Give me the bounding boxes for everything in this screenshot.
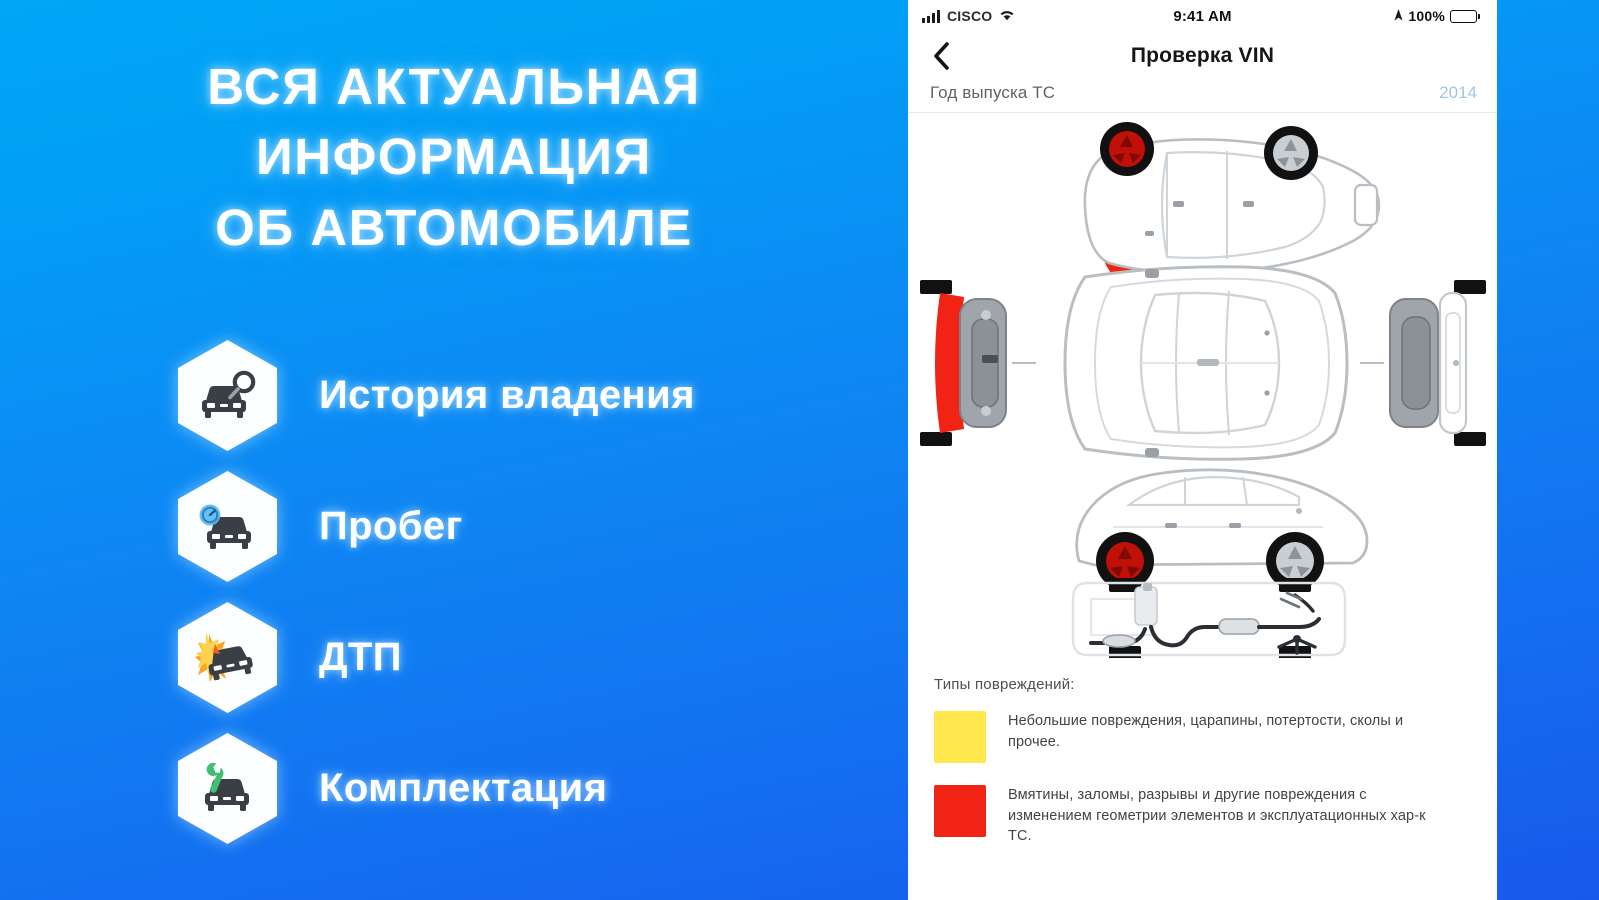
headline-line-2: ИНФОРМАЦИЯ: [0, 122, 908, 192]
swatch-major-damage: [934, 785, 986, 837]
feature-item-configuration[interactable]: Комплектация: [176, 723, 896, 854]
promo-screenshot: ВСЯ АКТУАЛЬНАЯ ИНФОРМАЦИЯ ОБ АВТОМОБИЛЕ: [0, 0, 1599, 900]
year-of-manufacture-row: Год выпуска ТС 2014: [908, 80, 1497, 113]
year-label: Год выпуска ТС: [930, 83, 1055, 103]
signal-bars-icon: [922, 10, 940, 23]
location-arrow-icon: [1394, 8, 1403, 25]
phone-screen: CISCO 9:41 AM 100%: [908, 0, 1497, 900]
damage-legend: Типы повреждений: Небольшие повреждения,…: [908, 658, 1497, 847]
legend-item-major-damage: Вмятины, заломы, разрывы и другие повреж…: [934, 785, 1473, 847]
wifi-icon: [999, 8, 1015, 25]
legend-text: Вмятины, заломы, разрывы и другие повреж…: [1008, 785, 1428, 847]
car-wrench-icon: [176, 732, 279, 845]
feature-item-accidents[interactable]: ДТП: [176, 592, 896, 723]
vehicle-damage-diagram[interactable]: [908, 113, 1497, 658]
battery-icon: [1450, 10, 1477, 23]
feature-label: История владения: [319, 373, 695, 418]
legend-item-minor-damage: Небольшие повреждения, царапины, потерто…: [934, 711, 1473, 763]
feature-label: ДТП: [319, 635, 402, 680]
headline-line-1: ВСЯ АКТУАЛЬНАЯ: [0, 52, 908, 122]
feature-label: Комплектация: [319, 766, 607, 811]
carrier-label: CISCO: [947, 8, 992, 24]
feature-label: Пробег: [319, 504, 463, 549]
battery-percent-label: 100%: [1408, 8, 1445, 24]
nav-bar: Проверка VIN: [908, 32, 1497, 80]
car-crash-icon: [176, 601, 279, 714]
legend-title: Типы повреждений:: [934, 676, 1473, 693]
nav-title: Проверка VIN: [908, 44, 1497, 68]
headline-line-3: ОБ АВТОМОБИЛЕ: [0, 193, 908, 263]
year-value: 2014: [1439, 83, 1477, 103]
page-title: ВСЯ АКТУАЛЬНАЯ ИНФОРМАЦИЯ ОБ АВТОМОБИЛЕ: [0, 52, 908, 263]
promo-panel: ВСЯ АКТУАЛЬНАЯ ИНФОРМАЦИЯ ОБ АВТОМОБИЛЕ: [0, 0, 908, 900]
legend-text: Небольшие повреждения, царапины, потерто…: [1008, 711, 1428, 752]
swatch-minor-damage: [934, 711, 986, 763]
car-magnifier-icon: [176, 339, 279, 452]
car-speedometer-icon: [176, 470, 279, 583]
feature-item-mileage[interactable]: Пробег: [176, 461, 896, 592]
status-bar: CISCO 9:41 AM 100%: [908, 0, 1497, 32]
feature-item-ownership-history[interactable]: История владения: [176, 330, 896, 461]
feature-list: История владения: [176, 330, 896, 854]
